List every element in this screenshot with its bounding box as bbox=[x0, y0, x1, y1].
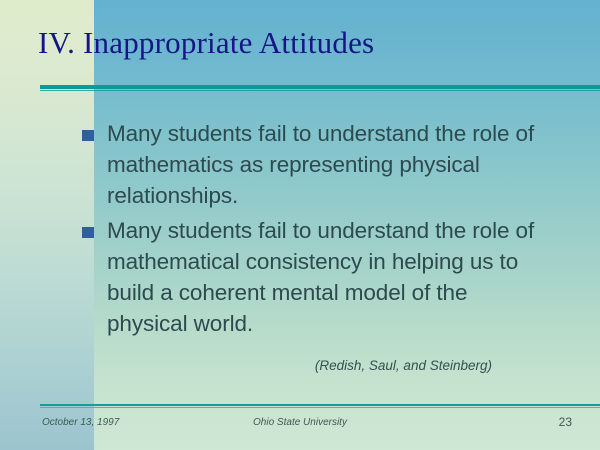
slide-body-content: Many students fail to understand the rol… bbox=[82, 118, 552, 343]
title-rule-thick-bar bbox=[40, 85, 600, 89]
square-bullet-icon bbox=[82, 130, 94, 141]
footer-rule-line-upper bbox=[40, 404, 600, 406]
list-item: Many students fail to understand the rol… bbox=[82, 215, 552, 339]
slide-footer: October 13, 1997 Ohio State University 2… bbox=[0, 415, 600, 437]
square-bullet-icon bbox=[82, 227, 94, 238]
footer-rule-line-lower bbox=[40, 407, 600, 408]
title-underline-rule bbox=[40, 85, 600, 92]
title-rule-thin-line bbox=[40, 90, 600, 91]
footer-organization: Ohio State University bbox=[0, 417, 600, 428]
presentation-slide: IV. Inappropriate Attitudes Many student… bbox=[0, 0, 600, 450]
left-decorative-band bbox=[0, 0, 94, 450]
list-item: Many students fail to understand the rol… bbox=[82, 118, 552, 211]
bullet-text: Many students fail to understand the rol… bbox=[107, 218, 534, 336]
footer-page-number: 23 bbox=[559, 415, 572, 429]
footer-divider-rule bbox=[40, 404, 600, 409]
slide-title: IV. Inappropriate Attitudes bbox=[38, 26, 578, 61]
citation-attribution: (Redish, Saul, and Steinberg) bbox=[0, 358, 492, 373]
bullet-text: Many students fail to understand the rol… bbox=[107, 121, 534, 208]
